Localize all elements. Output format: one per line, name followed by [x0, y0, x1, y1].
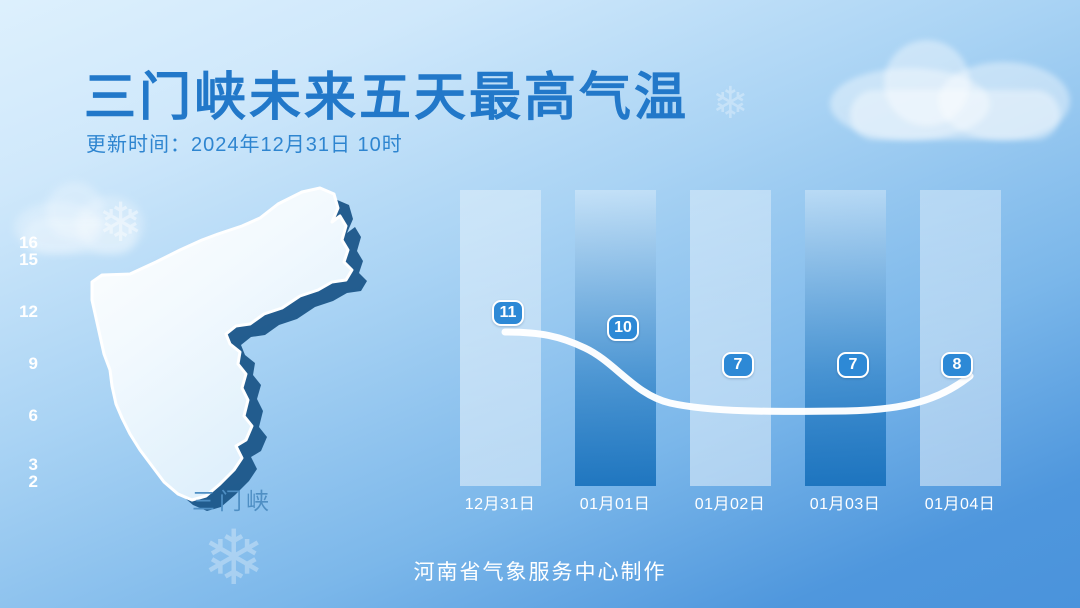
y-tick: 2	[4, 472, 38, 492]
x-tick: 01月04日	[900, 490, 1020, 514]
sanmenxia-map: 三门峡	[62, 182, 392, 522]
cloud-icon-top-right	[830, 40, 1070, 140]
temperature-line	[410, 190, 1030, 500]
y-tick: 12	[4, 302, 38, 322]
y-tick: 15	[4, 250, 38, 270]
x-tick: 01月01日	[555, 490, 675, 514]
x-tick: 12月31日	[440, 490, 560, 514]
map-region-label: 三门峡	[192, 482, 273, 516]
data-point-badge: 11	[492, 300, 524, 326]
data-point-badge: 8	[941, 352, 973, 378]
y-axis: 16 15 12 9 6 3 2	[0, 190, 38, 500]
snowflake-icon-header: ❄	[712, 82, 749, 126]
data-point-badge: 7	[722, 352, 754, 378]
x-tick: 01月03日	[785, 490, 905, 514]
map-body-layer	[92, 188, 352, 500]
update-time-text: 更新时间：2024年12月31日 10时	[86, 128, 403, 157]
y-tick: 9	[4, 354, 38, 374]
footer-credit: 河南省气象服务中心制作	[0, 556, 1080, 586]
data-point-badge: 7	[837, 352, 869, 378]
page-title: 三门峡未来五天最高气温	[84, 55, 689, 130]
temperature-chart: 11 10 7 7 8 12月31日 01月01日 01月02日 01月03日 …	[410, 190, 1030, 500]
y-tick: 6	[4, 406, 38, 426]
infographic-canvas: ❄ ❄ ❄ 三门峡未来五天最高气温 更新时间：2024年12月31日 10时 三…	[0, 0, 1080, 608]
data-point-badge: 10	[607, 315, 639, 341]
x-tick: 01月02日	[670, 490, 790, 514]
